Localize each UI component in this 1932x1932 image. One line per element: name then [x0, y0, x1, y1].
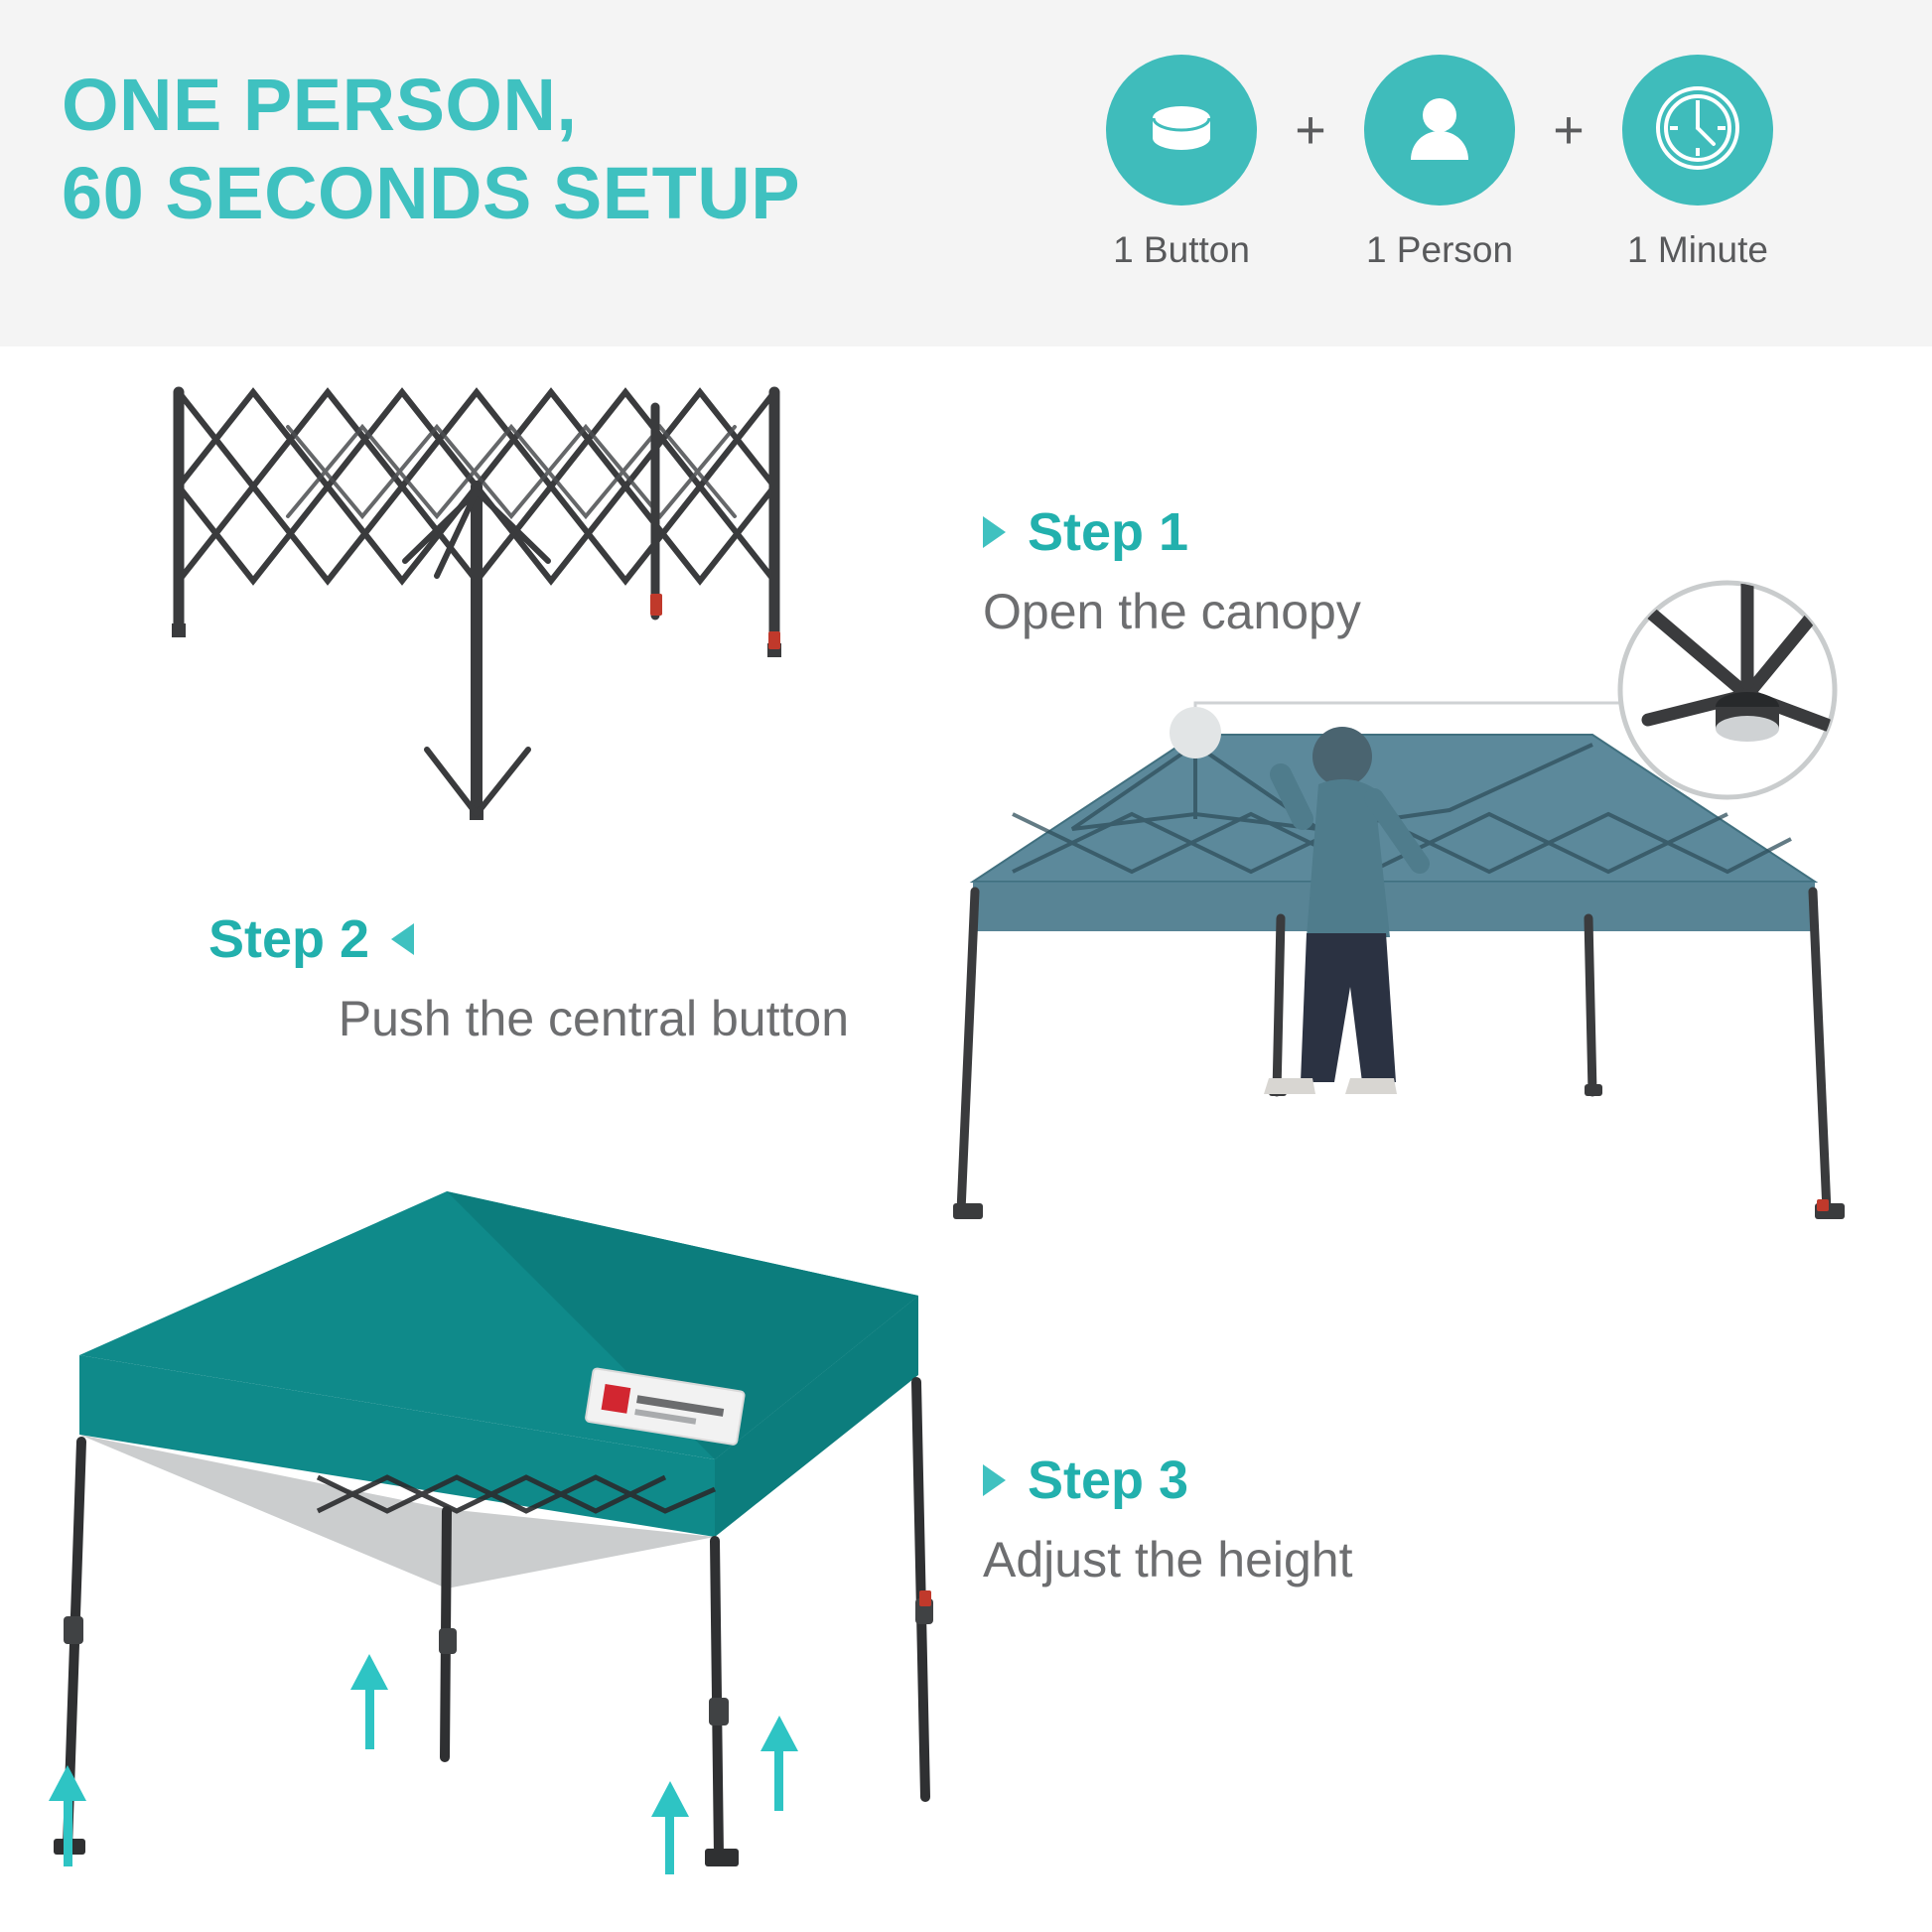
- leg-feet: [54, 1839, 739, 1866]
- step-1-heading: Step 1: [983, 501, 1361, 563]
- height-adjust-canopy-illustration: [20, 1162, 973, 1876]
- clock-icon: [1650, 80, 1745, 181]
- step-3-subtitle: Adjust the height: [983, 1531, 1353, 1588]
- badge-1-minute: 1 Minute: [1608, 55, 1787, 271]
- badge-circle: [1622, 55, 1773, 206]
- badge-label: 1 Button: [1113, 229, 1250, 271]
- person-icon: [1396, 84, 1483, 177]
- plus-separator-2: +: [1529, 55, 1608, 206]
- plus-separator-1: +: [1271, 55, 1350, 206]
- collapsed-canopy-frame-illustration: [139, 367, 874, 864]
- button-cylinder-icon: [1138, 84, 1225, 177]
- step-2-title: Step 2: [208, 908, 369, 970]
- step-3-block: Step 3 Adjust the height: [983, 1449, 1353, 1588]
- step-3-title: Step 3: [1028, 1449, 1188, 1511]
- up-arrow-icon: [760, 1716, 798, 1811]
- red-clip-accent: [768, 631, 780, 649]
- callout-magnifier: [1620, 576, 1835, 797]
- badge-circle: [1106, 55, 1257, 206]
- badge-1-person: 1 Person: [1350, 55, 1529, 271]
- step-1-title: Step 1: [1028, 501, 1188, 563]
- center-push-button: [1170, 707, 1221, 759]
- red-clip-accent: [650, 594, 662, 616]
- open-canopy-illustration: [953, 616, 1847, 1251]
- height-arrows: [49, 1654, 798, 1874]
- leg-joints: [64, 1590, 933, 1725]
- step-2-block: Step 2 Push the central button: [208, 908, 849, 1047]
- step-3-heading: Step 3: [983, 1449, 1353, 1511]
- triangle-left-icon: [391, 923, 414, 955]
- badge-circle: [1364, 55, 1515, 206]
- canopy-legs: [961, 892, 1827, 1211]
- headline-line-1: ONE PERSON,: [62, 64, 578, 146]
- badge-label: 1 Person: [1366, 229, 1513, 271]
- step-2-heading: Step 2: [208, 908, 849, 970]
- feature-badge-row: 1 Button + 1 Person +: [1092, 55, 1787, 271]
- up-arrow-icon: [350, 1654, 388, 1749]
- leg-feet: [953, 1084, 1845, 1219]
- header-banner: ONE PERSON, 60 SECONDS SETUP 1 Button +: [0, 0, 1932, 346]
- triangle-right-icon: [983, 516, 1006, 548]
- up-arrow-icon: [651, 1781, 689, 1874]
- badge-label: 1 Minute: [1627, 229, 1768, 271]
- headline-line-2: 60 SECONDS SETUP: [62, 150, 800, 238]
- page-title: ONE PERSON, 60 SECONDS SETUP: [62, 62, 800, 238]
- step-2-subtitle: Push the central button: [208, 990, 849, 1047]
- badge-1-button: 1 Button: [1092, 55, 1271, 271]
- callout-leader-line: [1195, 703, 1624, 730]
- triangle-right-icon: [983, 1464, 1006, 1496]
